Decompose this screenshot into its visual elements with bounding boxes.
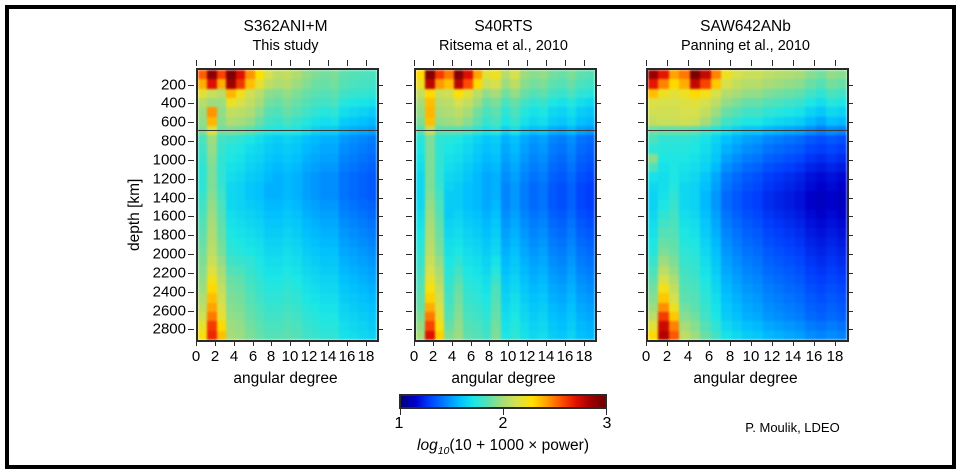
heatmap-cell <box>349 247 358 256</box>
heatmap-cell <box>463 275 472 284</box>
heatmap-cell <box>784 89 794 98</box>
y-tick-label: 1600 <box>134 208 186 225</box>
heatmap-cell <box>805 321 815 330</box>
heatmap-cell <box>753 275 763 284</box>
heatmap-cell <box>548 247 557 256</box>
heatmap-cell <box>358 191 367 200</box>
y-tick-right <box>595 85 601 86</box>
heatmap-cell <box>679 70 689 79</box>
heatmap-cell <box>501 98 510 107</box>
heatmap-cell <box>763 79 773 88</box>
x-tick-bottom <box>730 340 731 346</box>
heatmap-cell <box>784 284 794 293</box>
heatmap-cell <box>349 210 358 219</box>
heatmap-cell <box>463 210 472 219</box>
heatmap-cell <box>368 126 377 135</box>
heatmap-cell <box>226 247 235 256</box>
heatmap-cell <box>510 172 519 181</box>
heatmap-cell <box>198 238 207 247</box>
heatmap-cell <box>236 228 245 237</box>
heatmap-cell <box>690 191 700 200</box>
heatmap-cell <box>576 331 585 340</box>
heatmap-cell <box>567 331 576 340</box>
heatmap-cell <box>837 228 847 237</box>
heatmap-cell <box>679 107 689 116</box>
heatmap-cell <box>236 70 245 79</box>
heatmap-cell <box>473 256 482 265</box>
heatmap-cell <box>339 172 348 181</box>
heatmap-cell <box>774 293 784 302</box>
heatmap-cell <box>567 275 576 284</box>
heatmap-cell <box>491 135 500 144</box>
heatmap-cell <box>805 117 815 126</box>
heatmap-cell <box>816 98 826 107</box>
heatmap-cell <box>330 154 339 163</box>
heatmap-cell <box>330 98 339 107</box>
heatmap-cell <box>226 293 235 302</box>
heatmap-cell <box>368 228 377 237</box>
heatmap-cell <box>648 312 658 321</box>
heatmap-cell <box>330 219 339 228</box>
heatmap-cell <box>538 126 547 135</box>
heatmap-cell <box>763 107 773 116</box>
heatmap-cell <box>217 191 226 200</box>
heatmap-cell <box>444 182 453 191</box>
heatmap-cell <box>711 256 721 265</box>
heatmap-cell <box>658 98 668 107</box>
heatmap-cell <box>784 275 794 284</box>
heatmap-cell <box>520 89 529 98</box>
heatmap-cell <box>711 70 721 79</box>
heatmap-cell <box>721 266 731 275</box>
heatmap-cell <box>491 172 500 181</box>
heatmap-cell <box>473 200 482 209</box>
x-tick-bottom <box>452 340 453 346</box>
heatmap-cell <box>742 117 752 126</box>
heatmap-cell <box>207 117 216 126</box>
heatmap-cell <box>538 238 547 247</box>
heatmap-cell <box>236 303 245 312</box>
heatmap-cell <box>567 163 576 172</box>
heatmap-cell <box>273 135 282 144</box>
heatmap-cell <box>774 200 784 209</box>
heatmap-cell <box>491 256 500 265</box>
heatmap-cell <box>805 182 815 191</box>
heatmap-cell <box>711 172 721 181</box>
heatmap-cell <box>669 172 679 181</box>
heatmap-cell <box>690 293 700 302</box>
x-tick-bottom <box>565 340 566 346</box>
heatmap-cell <box>520 163 529 172</box>
heatmap-cell <box>283 247 292 256</box>
heatmap-cell <box>255 247 264 256</box>
heatmap-cell <box>444 303 453 312</box>
heatmap-cell <box>520 182 529 191</box>
heatmap-cell <box>245 191 254 200</box>
heatmap-cell <box>658 117 668 126</box>
heatmap-cell <box>454 210 463 219</box>
heatmap-cell <box>816 256 826 265</box>
heatmap-cell <box>482 107 491 116</box>
heatmap-cell <box>711 247 721 256</box>
heatmap-cell <box>349 107 358 116</box>
heatmap-cell <box>690 163 700 172</box>
heatmap-cell <box>826 303 836 312</box>
heatmap-cell <box>236 172 245 181</box>
heatmap-cell <box>245 70 254 79</box>
heatmap-cell <box>425 191 434 200</box>
heatmap-cell <box>763 293 773 302</box>
heatmap-cell <box>548 331 557 340</box>
heatmap-cell <box>245 321 254 330</box>
heatmap-cell <box>679 89 689 98</box>
heatmap-cell <box>273 98 282 107</box>
heatmap-cell <box>264 266 273 275</box>
heatmap-cell <box>330 256 339 265</box>
heatmap-cell <box>330 247 339 256</box>
heatmap-cell <box>482 256 491 265</box>
heatmap-cell <box>349 219 358 228</box>
heatmap-cell <box>520 266 529 275</box>
heatmap-cell <box>207 238 216 247</box>
heatmap-cell <box>805 312 815 321</box>
heatmap-cell <box>501 126 510 135</box>
heatmap-cell <box>283 98 292 107</box>
heatmap-cell <box>236 331 245 340</box>
heatmap-cell <box>283 275 292 284</box>
heatmap-cell <box>690 117 700 126</box>
heatmap-cell <box>679 79 689 88</box>
heatmap-cell <box>763 219 773 228</box>
heatmap-cell <box>721 247 731 256</box>
heatmap-cell <box>416 79 425 88</box>
heatmap-cell <box>529 182 538 191</box>
x-tick-top <box>772 60 773 66</box>
heatmap-cell <box>425 163 434 172</box>
heatmap-cell <box>425 210 434 219</box>
heatmap-cell <box>264 126 273 135</box>
heatmap-cell <box>264 98 273 107</box>
heatmap-cell <box>774 219 784 228</box>
heatmap-cell <box>784 321 794 330</box>
heatmap-cell <box>320 135 329 144</box>
heatmap-cell <box>283 284 292 293</box>
heatmap-cell <box>576 154 585 163</box>
heatmap-cell <box>302 303 311 312</box>
heatmap-cell <box>648 256 658 265</box>
y-tick-label: 600 <box>134 114 186 131</box>
heatmap-cell <box>302 172 311 181</box>
heatmap-cell <box>763 256 773 265</box>
heatmap-cell <box>255 284 264 293</box>
heatmap-cell <box>576 321 585 330</box>
heatmap-cell <box>349 172 358 181</box>
heatmap-cell <box>837 144 847 153</box>
y-tick-right <box>847 329 853 330</box>
heatmap-cell <box>217 256 226 265</box>
heatmap-cell <box>320 219 329 228</box>
heatmap-cell <box>339 98 348 107</box>
heatmap-cell <box>482 293 491 302</box>
heatmap-cell <box>217 107 226 116</box>
heatmap-cell <box>784 228 794 237</box>
y-tick-left <box>406 179 412 180</box>
x-tick-label: 4 <box>230 348 238 365</box>
heatmap-cell <box>586 266 595 275</box>
heatmap-cell <box>482 210 491 219</box>
x-tick-bottom <box>546 340 547 346</box>
heatmap-cell <box>349 312 358 321</box>
heatmap-cell <box>784 247 794 256</box>
heatmap-cell <box>837 163 847 172</box>
heatmap-cell <box>425 275 434 284</box>
heatmap-cell <box>753 89 763 98</box>
y-tick-left <box>638 292 644 293</box>
heatmap-cell <box>368 293 377 302</box>
heatmap-cell <box>311 321 320 330</box>
heatmap-cell <box>255 70 264 79</box>
heatmap-cell <box>774 303 784 312</box>
heatmap-cell <box>586 163 595 172</box>
heatmap-cell <box>245 154 254 163</box>
heatmap-cell <box>816 154 826 163</box>
x-tick-label: 8 <box>726 348 734 365</box>
heatmap-cell <box>217 228 226 237</box>
heatmap-cell <box>416 303 425 312</box>
colorbar-label-subscript: 10 <box>438 445 450 457</box>
heatmap-cell <box>302 331 311 340</box>
heatmap-cell <box>358 256 367 265</box>
heatmap-cell <box>774 144 784 153</box>
heatmap-cell <box>805 126 815 135</box>
heatmap-cell <box>217 219 226 228</box>
heatmap-cell <box>538 89 547 98</box>
x-tick-label: 6 <box>249 348 257 365</box>
heatmap-cell <box>669 107 679 116</box>
heatmap-cell <box>320 293 329 302</box>
heatmap-cell <box>339 210 348 219</box>
y-tick-left <box>406 311 412 312</box>
heatmap-cell <box>501 79 510 88</box>
heatmap-cell <box>273 70 282 79</box>
heatmap-cell <box>700 126 710 135</box>
heatmap-cell <box>648 117 658 126</box>
heatmap-cell <box>648 275 658 284</box>
y-tick-left <box>406 273 412 274</box>
heatmap-cell <box>349 135 358 144</box>
heatmap-cell <box>226 89 235 98</box>
heatmap-cell <box>463 144 472 153</box>
heatmap-cell <box>711 182 721 191</box>
heatmap-cell <box>302 256 311 265</box>
y-tick-right <box>595 235 601 236</box>
x-tick-top <box>751 60 752 66</box>
heatmap-cell <box>520 238 529 247</box>
heatmap-cell <box>805 247 815 256</box>
heatmap-cell <box>679 266 689 275</box>
heatmap-cell <box>826 256 836 265</box>
heatmap-cell <box>207 275 216 284</box>
heatmap-cell <box>795 266 805 275</box>
heatmap-cell <box>330 135 339 144</box>
x-tick-top <box>730 60 731 66</box>
heatmap-cell <box>795 321 805 330</box>
heatmap-cell <box>283 144 292 153</box>
heatmap-cell <box>207 312 216 321</box>
heatmap-cell <box>711 228 721 237</box>
heatmap-cell <box>711 312 721 321</box>
heatmap-cell <box>586 303 595 312</box>
heatmap-cell <box>435 144 444 153</box>
heatmap-cell <box>795 331 805 340</box>
heatmap-cell <box>311 266 320 275</box>
heatmap-cell <box>548 284 557 293</box>
heatmap-cell <box>837 293 847 302</box>
heatmap-cell <box>520 191 529 200</box>
heatmap-cell <box>425 70 434 79</box>
heatmap-cell <box>567 98 576 107</box>
y-tick-right <box>595 292 601 293</box>
heatmap-cell <box>753 266 763 275</box>
x-tick-label: 10 <box>500 348 517 365</box>
heatmap-cell <box>529 293 538 302</box>
heatmap-cell <box>245 98 254 107</box>
heatmap-cell <box>435 275 444 284</box>
heatmap-cell <box>416 144 425 153</box>
heatmap-cell <box>548 117 557 126</box>
heatmap-cell <box>837 79 847 88</box>
heatmap-cell <box>529 303 538 312</box>
heatmap-cell <box>669 312 679 321</box>
heatmap-cell <box>586 182 595 191</box>
x-tick-top <box>565 60 566 66</box>
heatmap-cell <box>454 126 463 135</box>
heatmap-cell <box>753 303 763 312</box>
heatmap-cell <box>283 117 292 126</box>
y-tick-left <box>188 273 194 274</box>
heatmap-cell <box>207 293 216 302</box>
heatmap-cell <box>311 331 320 340</box>
heatmap-cell <box>255 256 264 265</box>
heatmap-cell <box>198 247 207 256</box>
heatmap-cell <box>557 70 566 79</box>
heatmap-cell <box>416 200 425 209</box>
heatmap-cell <box>473 144 482 153</box>
heatmap-cell <box>669 191 679 200</box>
heatmap-cell <box>320 107 329 116</box>
y-tick-right <box>595 254 601 255</box>
y-tick-right <box>847 216 853 217</box>
heatmap-cell <box>292 172 301 181</box>
heatmap-cell <box>784 70 794 79</box>
heatmap-cell <box>774 210 784 219</box>
heatmap-cell <box>679 284 689 293</box>
y-tick-left <box>406 292 412 293</box>
heatmap-cell <box>311 312 320 321</box>
heatmap-cell <box>576 238 585 247</box>
heatmap-cell <box>557 275 566 284</box>
heatmap-cell <box>795 191 805 200</box>
heatmap-cell <box>816 210 826 219</box>
heatmap-cell <box>795 98 805 107</box>
heatmap-cell <box>510 284 519 293</box>
heatmap-cell <box>491 228 500 237</box>
heatmap-cell <box>349 126 358 135</box>
heatmap-cell <box>721 303 731 312</box>
heatmap-cell <box>339 154 348 163</box>
heatmap-cell <box>529 210 538 219</box>
heatmap-cell <box>463 135 472 144</box>
heatmap-cell <box>264 284 273 293</box>
heatmap-cell <box>826 117 836 126</box>
heatmap-cells <box>648 70 847 340</box>
heatmap-cell <box>576 135 585 144</box>
heatmap-cell <box>255 219 264 228</box>
heatmap-cell <box>700 107 710 116</box>
x-tick-bottom <box>508 340 509 346</box>
heatmap-cell <box>292 256 301 265</box>
heatmap-cell <box>349 303 358 312</box>
heatmap-cell <box>837 312 847 321</box>
heatmap-cell <box>795 256 805 265</box>
heatmap-cell <box>648 210 658 219</box>
heatmap-cell <box>826 228 836 237</box>
y-tick-right <box>595 141 601 142</box>
heatmap-cell <box>226 98 235 107</box>
heatmap-cell <box>690 312 700 321</box>
heatmap-cell <box>463 182 472 191</box>
heatmap-cell <box>425 126 434 135</box>
heatmap-cell <box>648 107 658 116</box>
heatmap-cell <box>491 144 500 153</box>
heatmap-cell <box>576 126 585 135</box>
heatmap-cell <box>742 172 752 181</box>
heatmap-cell <box>264 228 273 237</box>
heatmap-cell <box>482 275 491 284</box>
heatmap-cell <box>732 107 742 116</box>
heatmap-cell <box>721 89 731 98</box>
y-tick-left <box>188 254 194 255</box>
heatmap-cell <box>236 135 245 144</box>
heatmap-cell <box>826 172 836 181</box>
heatmap-cell <box>529 154 538 163</box>
heatmap-cell <box>473 247 482 256</box>
heatmap-cell <box>520 144 529 153</box>
heatmap-cell <box>529 266 538 275</box>
heatmap-cell <box>320 154 329 163</box>
heatmap-cell <box>548 238 557 247</box>
heatmap-cell <box>763 228 773 237</box>
heatmap-cell <box>557 256 566 265</box>
heatmap-cell <box>283 126 292 135</box>
heatmap-cell <box>586 219 595 228</box>
heatmap-cell <box>510 247 519 256</box>
heatmap-cell <box>416 256 425 265</box>
heatmap-cell <box>816 293 826 302</box>
heatmap-cell <box>805 172 815 181</box>
x-tick-top <box>290 60 291 66</box>
heatmap-cell <box>339 219 348 228</box>
heatmap-cell <box>292 98 301 107</box>
heatmap-cell <box>473 79 482 88</box>
heatmap-cell <box>226 163 235 172</box>
heatmap-cell <box>711 210 721 219</box>
heatmap-cell <box>217 89 226 98</box>
heatmap-cell <box>529 107 538 116</box>
heatmap-cell <box>330 284 339 293</box>
heatmap-cell <box>435 284 444 293</box>
heatmap-cell <box>320 79 329 88</box>
